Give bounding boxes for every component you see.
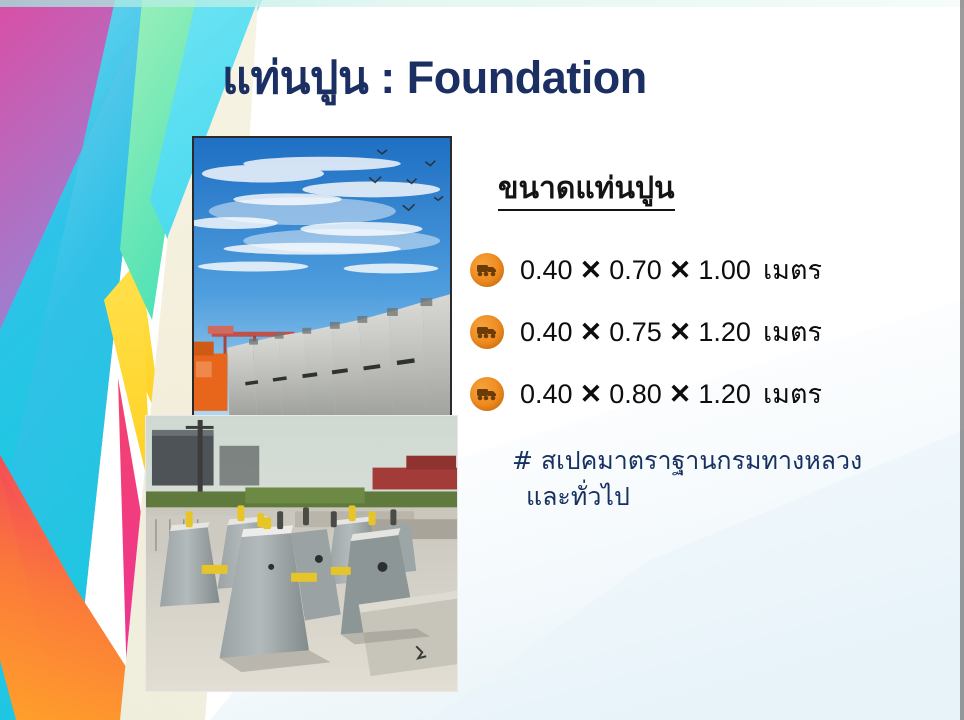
concrete-truck-glyph bbox=[476, 386, 498, 402]
spec-width: 0.40 bbox=[520, 317, 573, 347]
slide-title: แท่นปูน : Foundation bbox=[222, 52, 822, 104]
spec-row: 0.40✕0.75✕1.20เมตร bbox=[470, 301, 940, 363]
times-symbol: ✕ bbox=[573, 317, 610, 347]
concrete-truck-icon bbox=[470, 253, 504, 287]
concrete-truck-icon bbox=[470, 315, 504, 349]
concrete-truck-icon bbox=[470, 377, 504, 411]
spec-length: 1.20 bbox=[698, 317, 751, 347]
spec-dimensions: 0.40✕0.75✕1.20เมตร bbox=[520, 310, 822, 353]
spec-dimensions: 0.40✕0.70✕1.00เมตร bbox=[520, 248, 822, 291]
spec-row: 0.40✕0.70✕1.00เมตร bbox=[470, 239, 940, 301]
concrete-truck-glyph bbox=[476, 324, 498, 340]
standard-spec-note: # สเปคมาตราฐานกรมทางหลวง และทั่วไป bbox=[512, 443, 940, 516]
spec-row: 0.40✕0.80✕1.20เมตร bbox=[470, 363, 940, 425]
concrete-foundation-blocks-yard-photo bbox=[145, 415, 458, 692]
spec-width: 0.40 bbox=[520, 255, 573, 285]
spec-depth: 0.80 bbox=[609, 379, 662, 409]
slide-title-english: Foundation bbox=[407, 52, 647, 103]
note-line-1: # สเปคมาตราฐานกรมทางหลวง bbox=[512, 443, 940, 479]
times-symbol: ✕ bbox=[573, 379, 610, 409]
spec-unit: เมตร bbox=[763, 255, 822, 286]
slide-title-separator: : bbox=[380, 52, 395, 103]
specifications-heading: ขนาดแท่นปูน bbox=[498, 170, 675, 211]
note-line-2: และทั่วไป bbox=[526, 479, 940, 515]
times-symbol: ✕ bbox=[662, 255, 699, 285]
slide-title-thai: แท่นปูน bbox=[222, 51, 368, 104]
spec-dimensions: 0.40✕0.80✕1.20เมตร bbox=[520, 372, 822, 415]
specifications-list: 0.40✕0.70✕1.00เมตร 0.40✕0.75✕1.20เมตร bbox=[470, 239, 940, 425]
spec-length: 1.20 bbox=[698, 379, 751, 409]
spec-unit: เมตร bbox=[763, 317, 822, 348]
specifications-panel: ขนาดแท่นปูน 0.40✕0.70✕1.00เมตร bbox=[470, 170, 940, 515]
spec-length: 1.00 bbox=[698, 255, 751, 285]
spec-unit: เมตร bbox=[763, 379, 822, 410]
yard-photo-graphic bbox=[146, 416, 457, 691]
times-symbol: ✕ bbox=[662, 317, 699, 347]
spec-width: 0.40 bbox=[520, 379, 573, 409]
times-symbol: ✕ bbox=[573, 255, 610, 285]
spec-depth: 0.75 bbox=[609, 317, 662, 347]
times-symbol: ✕ bbox=[662, 379, 699, 409]
concrete-truck-glyph bbox=[476, 262, 498, 278]
slide-canvas: แท่นปูน : Foundation bbox=[0, 0, 964, 720]
spec-depth: 0.70 bbox=[609, 255, 662, 285]
